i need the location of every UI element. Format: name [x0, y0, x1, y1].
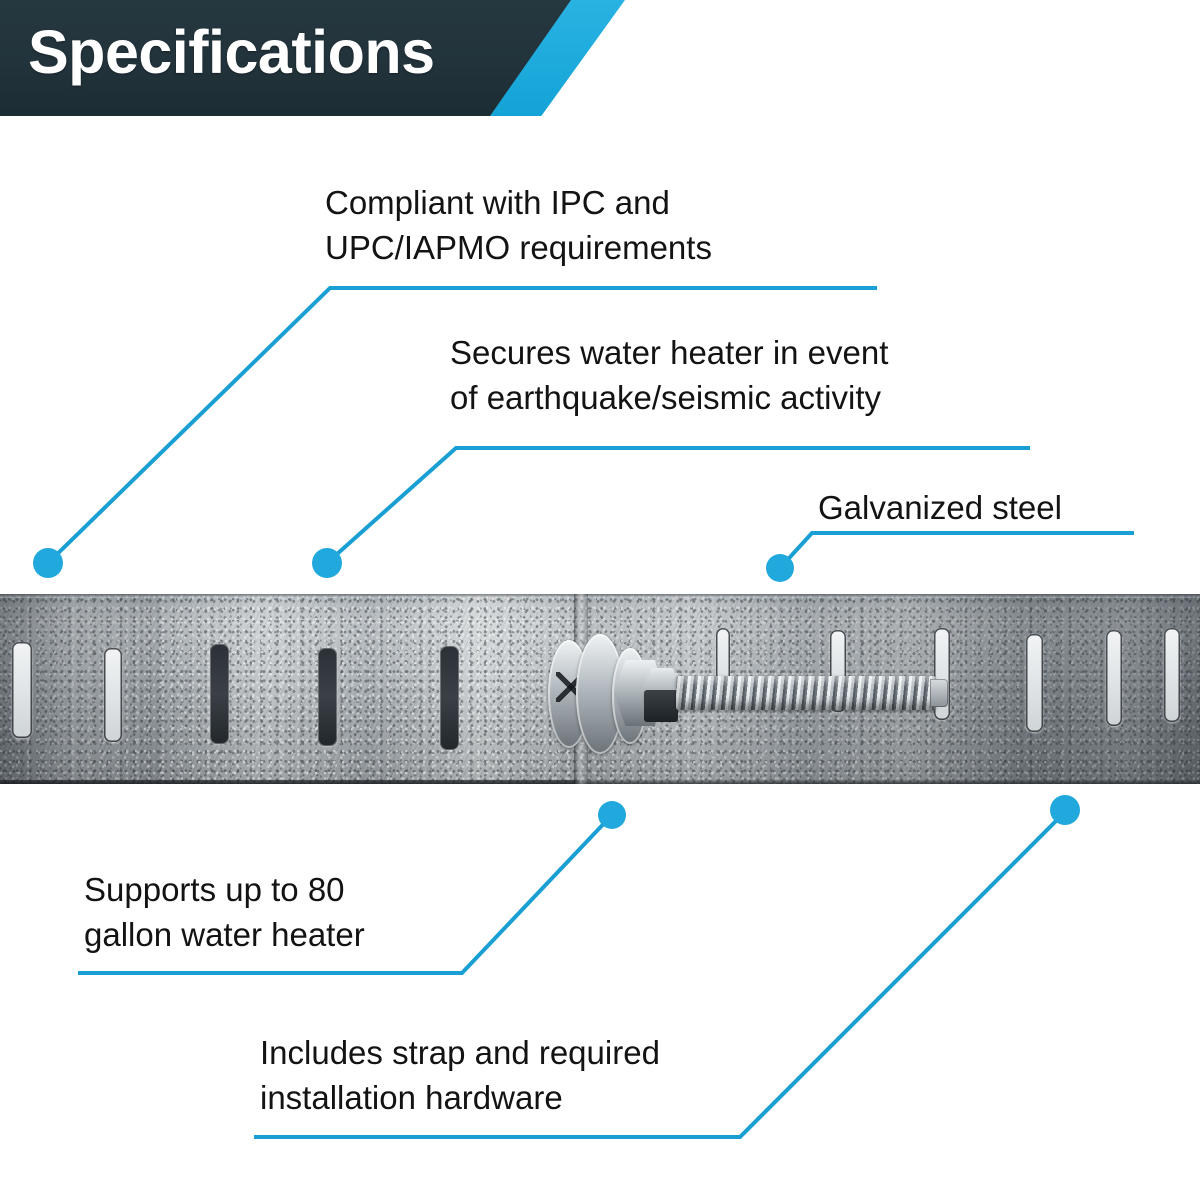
- callout-dot-seismic[interactable]: [312, 548, 342, 578]
- callout-line-1: Compliant with IPC and: [325, 180, 712, 225]
- threaded-bolt-shaft: [676, 676, 936, 710]
- callout-line-1: Includes strap and required: [260, 1030, 660, 1075]
- bolt-tip: [930, 679, 948, 707]
- specifications-infographic: Specifications: [0, 0, 1200, 1200]
- callout-text-capacity: Supports up to 80 gallon water heater: [84, 867, 365, 957]
- strap-slot: [318, 648, 337, 746]
- strap-slot: [104, 648, 122, 742]
- callout-line-2: UPC/IAPMO requirements: [325, 225, 712, 270]
- callout-text-material: Galvanized steel: [818, 485, 1062, 530]
- leader-line-material: [780, 533, 1132, 568]
- callout-dot-contents[interactable]: [1050, 795, 1080, 825]
- callout-line-2: installation hardware: [260, 1075, 660, 1120]
- strap-slot: [440, 646, 459, 750]
- strap-slot: [1026, 634, 1043, 732]
- header-banner: Specifications: [0, 0, 660, 116]
- hex-nut-shadow: [644, 690, 678, 722]
- strap-slot: [12, 642, 32, 738]
- callout-dot-material[interactable]: [766, 554, 794, 582]
- strap-slot: [1164, 628, 1180, 722]
- callout-dot-compliance[interactable]: [33, 548, 63, 578]
- strap-edge-top: [0, 594, 1200, 598]
- callout-line-1: Secures water heater in event: [450, 330, 888, 375]
- callout-line-1: Galvanized steel: [818, 485, 1062, 530]
- callout-text-contents: Includes strap and required installation…: [260, 1030, 660, 1120]
- callout-dot-capacity[interactable]: [598, 801, 626, 829]
- callout-text-compliance: Compliant with IPC and UPC/IAPMO require…: [325, 180, 712, 270]
- callout-line-2: gallon water heater: [84, 912, 365, 957]
- callout-line-1: Supports up to 80: [84, 867, 365, 912]
- strap-overlap-step: [0, 780, 580, 784]
- page-title: Specifications: [28, 16, 435, 88]
- callout-line-2: of earthquake/seismic activity: [450, 375, 888, 420]
- strap-slot: [1106, 630, 1122, 726]
- callout-text-seismic: Secures water heater in event of earthqu…: [450, 330, 888, 420]
- strap-slot: [210, 644, 229, 744]
